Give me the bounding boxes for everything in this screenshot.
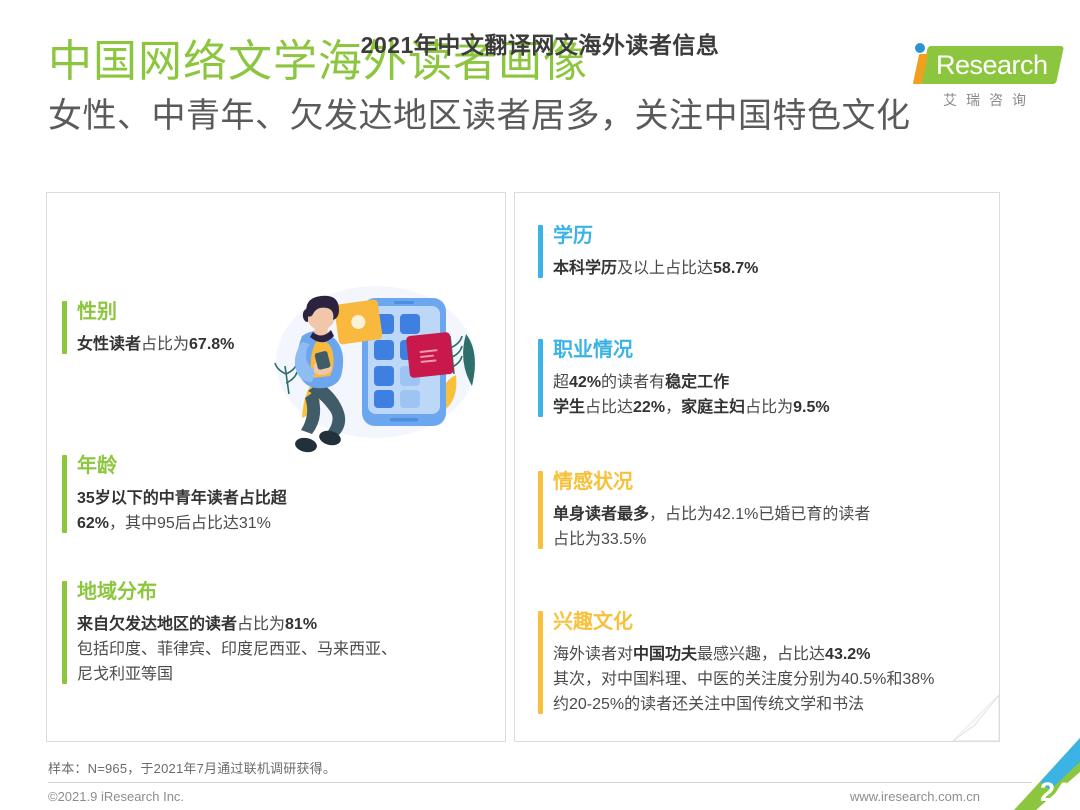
accent-bar xyxy=(538,339,543,417)
stat-block-education: 学历 本科学历及以上占比达58.7% xyxy=(538,222,958,281)
logo-chinese-name: 艾瑞咨询 xyxy=(902,90,1062,110)
stat-line: 海外读者对中国功夫最感兴趣，占比达43.2% xyxy=(553,642,988,667)
stat-line: 尼戈利亚等国 xyxy=(77,662,462,687)
accent-bar xyxy=(62,455,67,533)
stat-block-gender: 性别 女性读者占比为67.8% xyxy=(62,298,302,357)
stat-line: 来自欠发达地区的读者占比为81% xyxy=(77,612,462,637)
stat-heading: 学历 xyxy=(553,222,958,250)
stat-line: 62%，其中95后占比达31% xyxy=(77,511,362,536)
stat-heading: 年龄 xyxy=(77,452,362,480)
stat-heading: 职业情况 xyxy=(553,336,968,364)
stat-line: 其次，对中国料理、中医的关注度分别为40.5%和38% xyxy=(553,667,988,692)
accent-bar xyxy=(62,581,67,684)
accent-bar xyxy=(538,471,543,549)
accent-bar xyxy=(538,225,543,278)
stat-line: 本科学历及以上占比达58.7% xyxy=(553,256,958,281)
stat-heading: 地域分布 xyxy=(77,578,462,606)
stat-block-occupation: 职业情况 超42%的读者有稳定工作学生占比达22%，家庭主妇占比为9.5% xyxy=(538,336,968,420)
stat-line: 学生占比达22%，家庭主妇占比为9.5% xyxy=(553,395,968,420)
stat-block-marital-status: 情感状况 单身读者最多，占比为42.1%已婚已育的读者占比为33.5% xyxy=(538,468,968,552)
stat-heading: 情感状况 xyxy=(553,468,968,496)
page-number: 24 xyxy=(1040,777,1068,808)
stat-heading: 兴趣文化 xyxy=(553,608,988,636)
footer-divider xyxy=(48,782,1032,783)
left-panel-title: 2021年中文翻译网文海外读者信息 xyxy=(0,26,1080,60)
stat-line: 女性读者占比为67.8% xyxy=(77,332,302,357)
sample-note: 样本：N=965，于2021年7月通过联机调研获得。 xyxy=(48,758,336,777)
stat-block-region: 地域分布 来自欠发达地区的读者占比为81%包括印度、菲律宾、印度尼西亚、马来西亚… xyxy=(62,578,462,687)
page-subtitle: 女性、中青年、欠发达地区读者居多，关注中国特色文化 xyxy=(48,94,1032,138)
slide-canvas: 中国网络文学海外读者画像 女性、中青年、欠发达地区读者居多，关注中国特色文化 R… xyxy=(0,0,1080,810)
stat-line: 占比为33.5% xyxy=(553,527,968,552)
accent-bar xyxy=(62,301,67,354)
stat-line: 约20-25%的读者还关注中国传统文学和书法 xyxy=(553,692,988,717)
website-url: www.iresearch.com.cn xyxy=(850,789,980,804)
copyright-text: ©2021.9 iResearch Inc. xyxy=(48,789,184,804)
stat-heading: 性别 xyxy=(77,298,302,326)
stat-block-interest-culture: 兴趣文化 海外读者对中国功夫最感兴趣，占比达43.2%其次，对中国料理、中医的关… xyxy=(538,608,988,717)
stat-line: 单身读者最多，占比为42.1%已婚已育的读者 xyxy=(553,502,968,527)
stat-line: 超42%的读者有稳定工作 xyxy=(553,370,968,395)
stat-line: 35岁以下的中青年读者占比超 xyxy=(77,486,362,511)
stat-block-age: 年龄 35岁以下的中青年读者占比超62%，其中95后占比达31% xyxy=(62,452,362,536)
accent-bar xyxy=(538,611,543,714)
stat-line: 包括印度、菲律宾、印度尼西亚、马来西亚、 xyxy=(77,637,462,662)
